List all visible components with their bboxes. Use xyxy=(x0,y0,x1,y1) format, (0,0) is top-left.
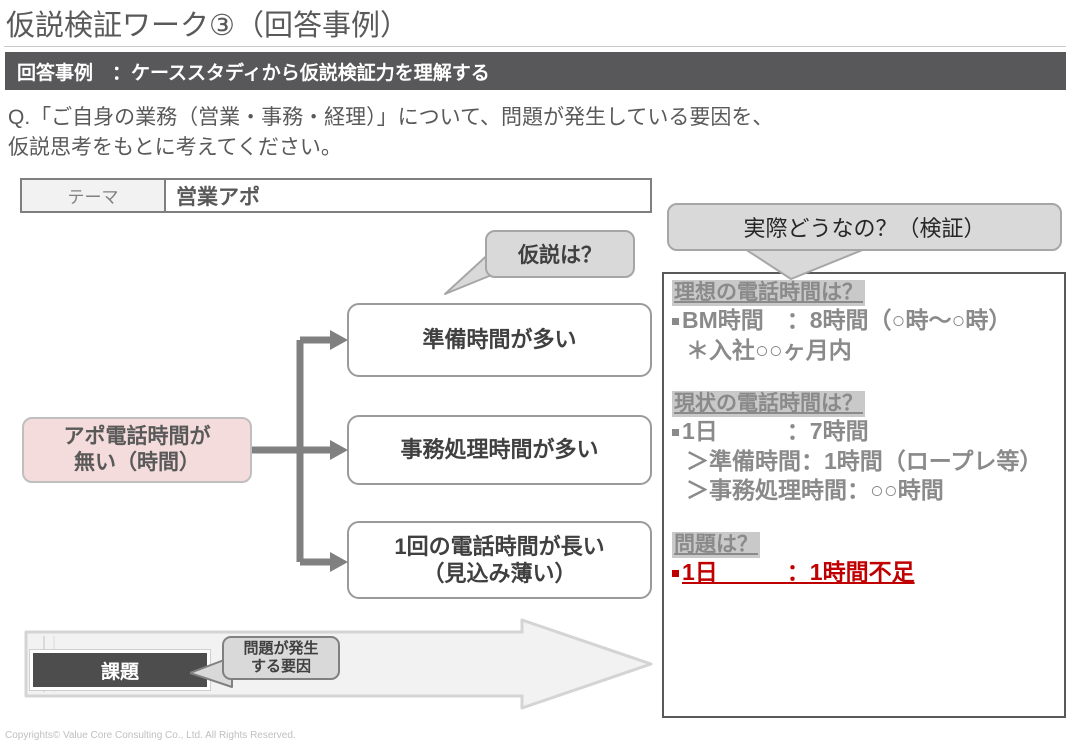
verification-block-problem-line-1-text: 1日 ：1時間不足 xyxy=(682,559,915,585)
hypothesis-callout: 仮説は？ xyxy=(485,230,635,278)
hypothesis-box-2[interactable]: 事務処理時間が多い xyxy=(347,415,652,485)
hypothesis-box-3-line-2: （見込み薄い） xyxy=(422,560,576,588)
verification-block-current-heading: 現状の電話時間は？ xyxy=(672,391,865,417)
verification-block-ideal-line-1: BM時間 ：8時間（○時～○時） xyxy=(672,306,1056,335)
hypothesis-box-1[interactable]: 準備時間が多い xyxy=(347,303,652,377)
verification-block-current-line-2: ＞準備時間：1時間（ロープレ等） xyxy=(672,447,1056,476)
factor-callout: 問題が発生 する要因 xyxy=(222,636,340,680)
bullet-square-icon xyxy=(672,318,679,325)
verification-callout: 実際どうなの？（検証） xyxy=(667,203,1062,251)
verification-block-problem-heading: 問題は？ xyxy=(672,532,760,558)
factor-callout-line-1: 問題が発生 xyxy=(243,640,318,658)
hypothesis-callout-label: 仮説は？ xyxy=(518,239,602,269)
verification-block-problem-line-1: 1日 ：1時間不足 xyxy=(672,558,1056,587)
verification-spacer-1 xyxy=(672,369,1056,391)
verification-block-ideal-line-1-text: BM時間 ：8時間（○時～○時） xyxy=(682,307,1011,333)
hypothesis-box-2-line-1: 事務処理時間が多い xyxy=(400,436,598,464)
question-text: Q.「ご自身の業務（営業・事務・経理）」について、問題が発生している要因を、 仮… xyxy=(8,103,908,164)
factor-callout-line-2: する要因 xyxy=(251,658,311,676)
verification-block-current-line-1-text: 1日 ：7時間 xyxy=(682,418,869,444)
bullet-square-icon xyxy=(672,570,679,577)
hypothesis-box-3-line-1: 1回の電話時間が長い xyxy=(394,533,604,561)
question-line-1: Q.「ご自身の業務（営業・事務・経理）」について、問題が発生している要因を、 xyxy=(8,103,908,133)
verification-panel: 理想の電話時間は？ BM時間 ：8時間（○時～○時） ＊入社○○ヶ月内 現状の電… xyxy=(662,272,1066,718)
theme-label-cell: テーマ xyxy=(22,180,166,211)
issue-box-label: 課題 xyxy=(101,657,139,684)
connector-arrows xyxy=(0,280,360,610)
verification-block-ideal-heading: 理想の電話時間は？ xyxy=(672,280,865,306)
verification-block-problem: 問題は？ 1日 ：1時間不足 xyxy=(672,532,1056,588)
page-title: 仮説検証ワーク③（回答事例） xyxy=(6,2,409,44)
copyright-footer: Copyrights© Value Core Consulting Co., L… xyxy=(5,730,296,741)
verification-block-current-line-1: 1日 ：7時間 xyxy=(672,417,1056,446)
theme-table: テーマ 営業アポ xyxy=(20,178,652,213)
verification-callout-tail-icon xyxy=(745,249,865,281)
hypothesis-box-3[interactable]: 1回の電話時間が長い （見込み薄い） xyxy=(347,521,652,599)
title-divider xyxy=(4,46,1066,47)
issue-box[interactable]: 課題 xyxy=(30,650,210,690)
verification-block-ideal-line-2: ＊入社○○ヶ月内 xyxy=(672,336,1056,365)
verification-spacer-2 xyxy=(672,510,1056,532)
verification-block-current: 現状の電話時間は？ 1日 ：7時間 ＞準備時間：1時間（ロープレ等） ＞事務処理… xyxy=(672,391,1056,506)
verification-block-ideal: 理想の電話時間は？ BM時間 ：8時間（○時～○時） ＊入社○○ヶ月内 xyxy=(672,280,1056,365)
verification-callout-label: 実際どうなの？（検証） xyxy=(743,211,985,243)
theme-value-cell[interactable]: 営業アポ xyxy=(166,180,650,211)
bullet-square-icon xyxy=(672,429,679,436)
verification-block-current-line-3: ＞事務処理時間：○○時間 xyxy=(672,476,1056,505)
section-header-bar: 回答事例 ：ケーススタディから仮説検証力を理解する xyxy=(5,52,1066,90)
question-line-2: 仮説思考をもとに考えてください。 xyxy=(8,133,908,163)
hypothesis-box-1-line-1: 準備時間が多い xyxy=(422,326,576,354)
section-header-label: 回答事例 ：ケーススタディから仮説検証力を理解する xyxy=(17,58,490,85)
